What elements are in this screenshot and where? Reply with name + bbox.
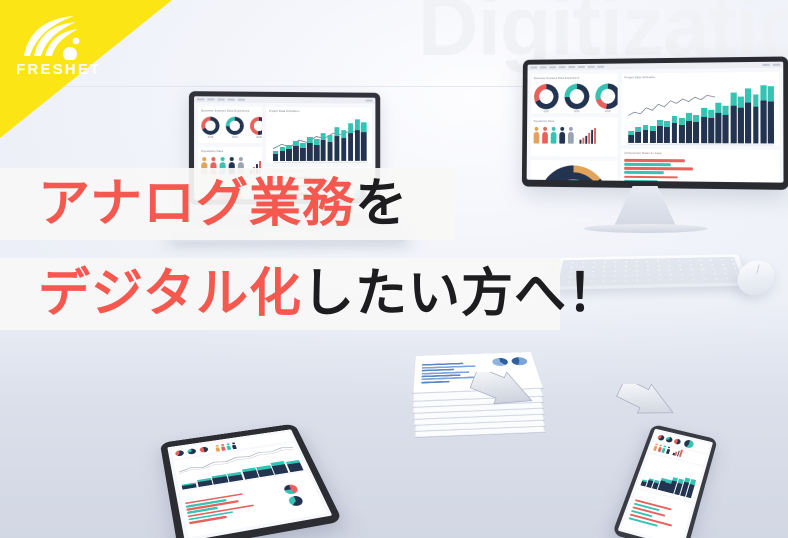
- panel-hbars: Achievement Rates by Case: [621, 149, 780, 183]
- laptop-donuts-title: Business Systems Data Experience: [201, 109, 258, 112]
- laptop-donut-label-3: 2020: [250, 136, 262, 139]
- horizontal-bars: [624, 157, 723, 183]
- panel-hbars-title: Achievement Rates by Case: [624, 152, 723, 156]
- panel-radial: Relative Value: [530, 160, 617, 183]
- radial-sunburst-chart: Relative Value: [539, 165, 609, 183]
- smartphone: [632, 418, 704, 538]
- donut-2019: 2019: [564, 84, 589, 113]
- donut-2018: 2018: [534, 84, 559, 113]
- population-minibars: [579, 128, 596, 144]
- laptop-stacked-bars: [273, 127, 367, 161]
- phone-screen: [618, 429, 713, 538]
- panel-timeline: Project Data Utilization: [621, 72, 779, 146]
- donut-label-2019: 2019: [564, 110, 589, 113]
- panel-donuts-title: Business Systems Data Experience: [534, 76, 615, 80]
- headline-1-dark: を: [355, 178, 408, 230]
- population-figures: [534, 125, 615, 144]
- headline-1-accent: アナログ業務: [38, 178, 355, 230]
- arrow-down-right-icon-2: [616, 384, 678, 430]
- laptop-panel-timeline: Project Data Utilization: [266, 107, 372, 163]
- laptop-donut-label-2: 2019: [226, 136, 244, 139]
- laptop-panel-donuts: Business Systems Data Experience 2018 20…: [198, 106, 261, 142]
- headline-line-1: アナログ業務を: [0, 168, 455, 240]
- monitor-base: [584, 224, 708, 233]
- wireless-mouse: [738, 252, 774, 302]
- monitor-bezel: Business Systems Data Experience 2018 20…: [522, 56, 788, 189]
- dashboard: Business Systems Data Experience 2018 20…: [527, 68, 784, 183]
- donut-2020: 2020: [595, 83, 618, 113]
- panel-timeline-title: Project Data Utilization: [625, 75, 776, 79]
- monitor-screen: Business Systems Data Experience 2018 20…: [527, 62, 784, 183]
- tablet: [168, 404, 320, 538]
- laptop-donut-label-1: 2018: [201, 136, 219, 139]
- tablet-screen: [167, 429, 332, 538]
- tablet-body: [160, 424, 343, 538]
- panel-population: Population Data: [531, 117, 618, 157]
- freshet-wave-logo-icon: [16, 14, 90, 60]
- arrow-down-right-icon-1: [470, 372, 536, 420]
- donut-label-2020: 2020: [595, 110, 618, 113]
- laptop-population-title: Population Data: [201, 150, 258, 153]
- donut-label-2018: 2018: [534, 110, 559, 113]
- panel-population-title: Population Data: [534, 120, 615, 123]
- freshet-logo[interactable]: FRESHET: [16, 14, 112, 78]
- panel-donuts: Business Systems Data Experience 2018 20…: [531, 73, 618, 113]
- brand-name: FRESHET: [16, 61, 112, 78]
- hero-banner: Digitization Business Systems Data Exper…: [0, 0, 788, 538]
- headline-2-accent: デジタル化: [38, 268, 302, 320]
- laptop-timeline-title: Project Data Utilization: [269, 110, 369, 114]
- headline-line-2: デジタル化したい方へ！: [0, 258, 560, 330]
- headline-2-dark: したい方へ！: [302, 268, 620, 320]
- stacked-bars: [628, 92, 774, 143]
- desktop-monitor: Business Systems Data Experience 2018 20…: [518, 58, 786, 188]
